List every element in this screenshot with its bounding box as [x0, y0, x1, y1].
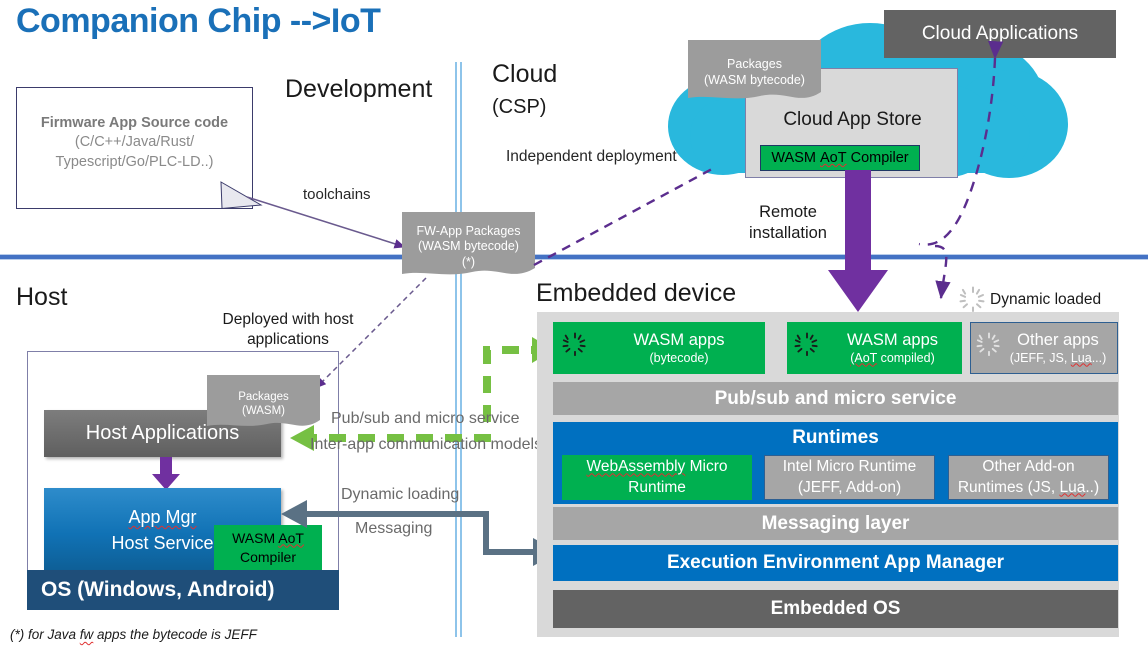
section-subheading-cloud-csp: (CSP) — [492, 96, 546, 119]
embedded-app-wasm-bytecode: WASM apps (bytecode) — [553, 322, 765, 374]
runtime-0-l1: WebAssembly Micro — [587, 457, 728, 477]
interapp-label: Inter-app communication models — [310, 436, 542, 454]
dynamic-loaded-icon-app-2 — [977, 332, 1001, 356]
fw-app-packages-callout: FW-App Packages (WASM bytecode) (*) — [402, 212, 535, 282]
app-1-sub: (AoT compiled) — [850, 351, 935, 367]
footnote: (*) for Java fw apps the bytecode is JEF… — [10, 627, 257, 642]
pubsub-label: Pub/sub and micro service — [331, 410, 520, 428]
host-internal-down-arrow — [150, 457, 182, 491]
remote-installation-line2: installation — [749, 223, 827, 244]
source-box-line2: (C/C++/Java/Rust/ — [75, 133, 194, 153]
slide-canvas: Companion Chip -->IoT Development Cloud … — [0, 0, 1148, 653]
fw-packages-line2: (WASM bytecode) — [418, 239, 519, 255]
embedded-runtimes-block: Runtimes WebAssembly Micro Runtime Intel… — [553, 422, 1118, 504]
section-heading-host: Host — [16, 283, 67, 312]
runtime-0-l2: Runtime — [628, 478, 686, 498]
embedded-app-other: Other apps (JEFF, JS, Lua...) — [970, 322, 1118, 374]
dynamic-loaded-icon-app-0 — [563, 332, 587, 356]
fw-packages-line1: FW-App Packages — [417, 224, 521, 240]
app-mgr-line2: Host Service — [111, 530, 213, 556]
source-box-line1: Firmware App Source code — [41, 114, 228, 134]
cloud-apps-embedded-dashed-arrow — [915, 48, 1045, 310]
cloud-aot-compiler-label-c: Compiler — [847, 150, 909, 166]
independent-deployment-label: Independent deployment — [506, 148, 677, 166]
app-2-sub: (JEFF, JS, Lua...) — [1010, 351, 1107, 367]
footnote-text: (*) for Java fw apps the bytecode is JEF… — [10, 627, 257, 642]
embedded-app-manager-label: Execution Environment App Manager — [667, 552, 1004, 574]
page-title: Companion Chip -->IoT — [16, 2, 380, 41]
remote-installation-line1: Remote — [759, 202, 817, 223]
app-0-name: WASM apps — [633, 330, 724, 351]
fw-packages-line3: (*) — [462, 255, 475, 271]
firmware-source-code-box: Firmware App Source code (C/C++/Java/Rus… — [16, 87, 253, 209]
toolchains-arrow — [245, 195, 420, 255]
cloud-packages-callout: Packages (WASM bytecode) — [688, 40, 821, 106]
dynamic-loaded-icon-app-1 — [795, 332, 819, 356]
independent-deployment-arrow — [528, 165, 718, 270]
dynamic-loaded-icon — [960, 286, 986, 312]
source-box-line3: Typescript/Go/PLC-LD..) — [56, 153, 214, 173]
runtime-2-l1: Other Add-on — [982, 457, 1074, 477]
runtime-intel-micro: Intel Micro Runtime (JEFF, Add-on) — [764, 455, 935, 500]
embedded-pubsub-layer: Pub/sub and micro service — [553, 382, 1118, 415]
embedded-messaging-layer: Messaging layer — [553, 507, 1118, 540]
runtime-1-l2: (JEFF, Add-on) — [798, 478, 901, 498]
app-1-name: WASM apps — [847, 330, 938, 351]
toolchains-label: toolchains — [303, 186, 371, 203]
host-os-box: OS (Windows, Android) — [27, 570, 339, 610]
embedded-runtimes-title: Runtimes — [553, 425, 1118, 451]
app-2-name: Other apps — [1017, 330, 1099, 351]
cloud-packages-line1: Packages — [727, 57, 782, 73]
messaging-label: Messaging — [355, 520, 432, 538]
embedded-pubsub-label: Pub/sub and micro service — [715, 388, 957, 410]
embedded-os-label: Embedded OS — [771, 598, 901, 620]
cloud-aot-compiler-box: WASM AoT Compiler — [760, 145, 920, 171]
dynamic-loaded-legend-label: Dynamic loaded — [990, 291, 1101, 309]
section-heading-cloud: Cloud — [492, 60, 557, 89]
host-packages-line2: (WASM) — [242, 404, 285, 418]
cloud-packages-line2: (WASM bytecode) — [704, 73, 805, 89]
embedded-app-manager: Execution Environment App Manager — [553, 545, 1118, 581]
embedded-messaging-label: Messaging layer — [762, 513, 910, 535]
section-heading-embedded-device: Embedded device — [536, 279, 736, 308]
runtime-wamr: WebAssembly Micro Runtime — [562, 455, 752, 500]
runtime-1-l1: Intel Micro Runtime — [783, 457, 917, 477]
cloud-aot-compiler-label-a: WASM — [771, 150, 820, 166]
host-os-label: OS (Windows, Android) — [41, 578, 275, 602]
app-0-sub: (bytecode) — [649, 351, 708, 367]
app-mgr-line1: App Mgr — [128, 504, 196, 530]
dynamic-loading-label: Dynamic loading — [341, 486, 459, 504]
embedded-app-wasm-aot: WASM apps (AoT compiled) — [787, 322, 962, 374]
embedded-os-box: Embedded OS — [553, 590, 1118, 628]
cloud-aot-compiler-label-b: AoT — [820, 150, 847, 166]
runtime-other-addon: Other Add-on Runtimes (JS, Lua..) — [948, 455, 1109, 500]
runtime-2-l2: Runtimes (JS, Lua..) — [958, 478, 1099, 498]
section-heading-development: Development — [285, 75, 432, 104]
cloud-applications-label: Cloud Applications — [922, 23, 1078, 45]
remote-installation-label: Remote installation — [740, 200, 836, 246]
